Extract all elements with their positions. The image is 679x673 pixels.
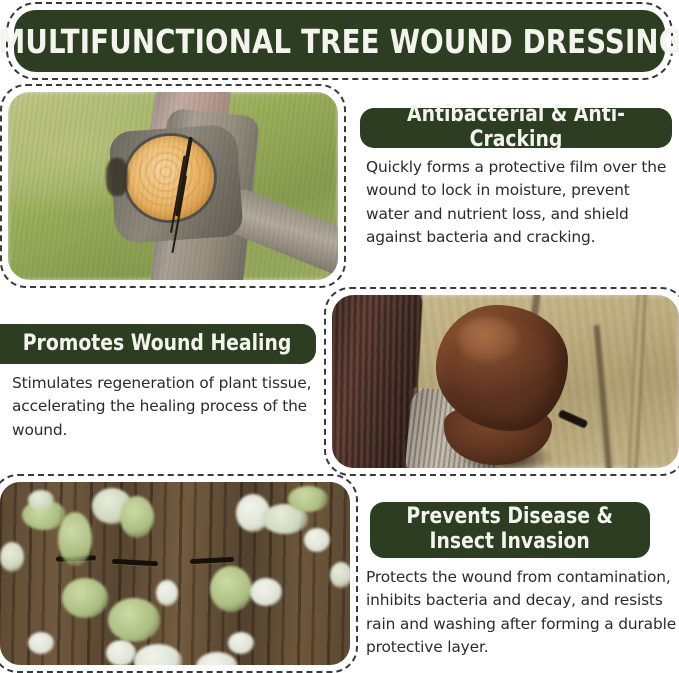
lichen-patch	[58, 512, 92, 566]
lichen-patch	[0, 542, 24, 572]
lichen-patch	[288, 486, 328, 512]
dressing-applied-photo	[332, 295, 679, 468]
lichen-patch	[228, 632, 254, 654]
section-body-healing: Stimulates regeneration of plant tissue,…	[12, 372, 312, 442]
lichen-patch	[62, 578, 108, 618]
lichen-bark-photo	[0, 482, 350, 665]
infographic-canvas: MULTIFUNCTIONAL TREE WOUND DRESSING Anti…	[0, 0, 679, 673]
lichen-patch	[120, 496, 154, 538]
lichen-patch	[28, 490, 54, 510]
dressing-highlight	[458, 317, 518, 361]
heading-pill-prevention: Prevents Disease & Insect Invasion	[370, 502, 650, 558]
page-title: MULTIFUNCTIONAL TREE WOUND DRESSING	[0, 25, 679, 58]
lichen-patch	[106, 640, 136, 665]
lichen-patch	[28, 632, 54, 654]
title-pill: MULTIFUNCTIONAL TREE WOUND DRESSING	[14, 10, 665, 72]
section-body-prevention: Protects the wound from contamination, i…	[366, 566, 678, 660]
section-heading-healing: Promotes Wound Healing	[22, 332, 291, 357]
heading-pill-healing: Promotes Wound Healing	[0, 324, 316, 364]
heading-pill-antibacterial: Antibacterial & Anti-Cracking	[360, 108, 672, 148]
lichen-patch	[304, 528, 330, 552]
lichen-patch	[108, 598, 160, 642]
page-title-banner: MULTIFUNCTIONAL TREE WOUND DRESSING	[14, 10, 665, 72]
section-heading-prevention: Prevents Disease & Insect Invasion	[407, 505, 614, 554]
bark-texture-overlay	[8, 92, 338, 280]
branch-wound-photo	[8, 92, 338, 280]
lichen-patch	[210, 566, 252, 612]
section-body-antibacterial: Quickly forms a protective film over the…	[366, 156, 676, 250]
lichen-patch	[156, 580, 178, 606]
lichen-patch	[250, 578, 282, 606]
section-heading-antibacterial: Antibacterial & Anti-Cracking	[368, 103, 664, 152]
lichen-patch	[330, 562, 350, 588]
